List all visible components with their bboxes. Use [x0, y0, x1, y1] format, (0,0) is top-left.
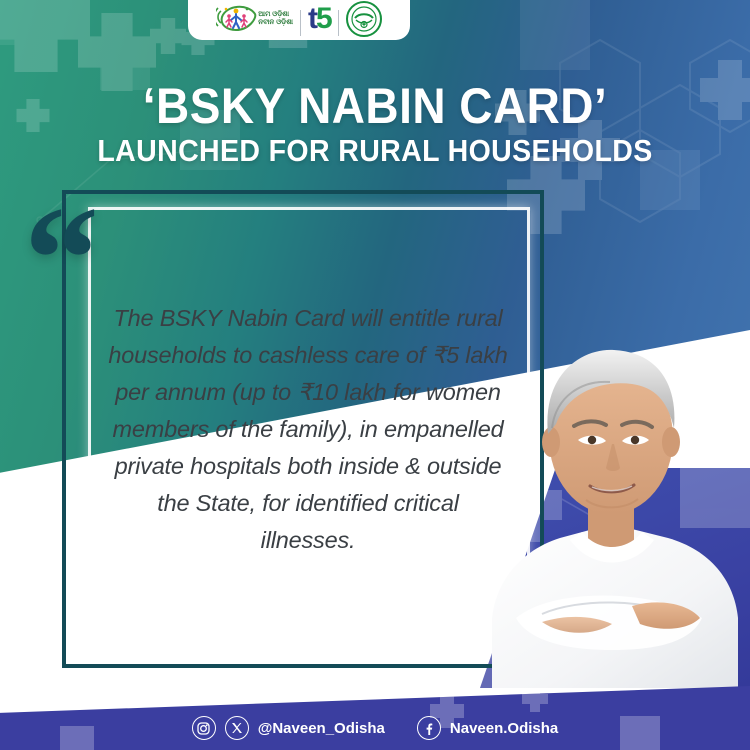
quote-mark-icon: “ — [24, 204, 93, 314]
top-logo-bar: ଆମ ଓଡ଼ିଶା ନବୀନ ଓଡ଼ିଶା t5 — [188, 0, 410, 40]
x-handle[interactable]: @Naveen_Odisha — [258, 720, 385, 737]
health-emblem-cell — [346, 2, 382, 36]
poster-canvas: ଆମ ଓଡ଼ିଶା ନବୀନ ଓଡ଼ିଶା t5 ‘BSKY NABIN CA — [0, 0, 750, 750]
portrait-naveen-patnaik — [482, 288, 742, 688]
x-twitter-icon[interactable] — [225, 716, 249, 740]
ama-odisha-logo-icon — [216, 2, 258, 37]
facebook-icon[interactable] — [417, 716, 441, 740]
ama-odisha-line1: ଆମ ଓଡ଼ିଶା — [258, 11, 293, 19]
quote-text: The BSKY Nabin Card will entitle rural h… — [108, 300, 508, 559]
social-links: @Naveen_Odisha Naveen.Odisha — [0, 716, 750, 740]
logo-divider-1 — [300, 10, 301, 36]
ama-odisha-line2: ନବୀନ ଓଡ଼ିଶା — [258, 19, 293, 27]
instagram-icon[interactable] — [192, 716, 216, 740]
headline: ‘BSKY NABIN CARD’ LAUNCHED FOR RURAL HOU… — [0, 80, 750, 168]
5t-letter-5: 5 — [316, 2, 331, 35]
facebook-handle[interactable]: Naveen.Odisha — [450, 720, 558, 737]
logo-divider-2 — [338, 10, 339, 36]
five-t-logo-cell: t5 — [308, 2, 331, 36]
headline-line-1: ‘BSKY NABIN CARD’ — [30, 80, 720, 132]
5t-logo-icon: t5 — [308, 4, 331, 34]
headline-line-2: LAUNCHED FOR RURAL HOUSEHOLDS — [30, 134, 720, 168]
ama-odisha-logo-cell: ଆମ ଓଡ଼ିଶା ନବୀନ ଓଡ଼ିଶା — [216, 2, 293, 36]
5t-letter-t: t — [308, 2, 316, 35]
odisha-health-department-emblem-icon — [346, 1, 382, 37]
